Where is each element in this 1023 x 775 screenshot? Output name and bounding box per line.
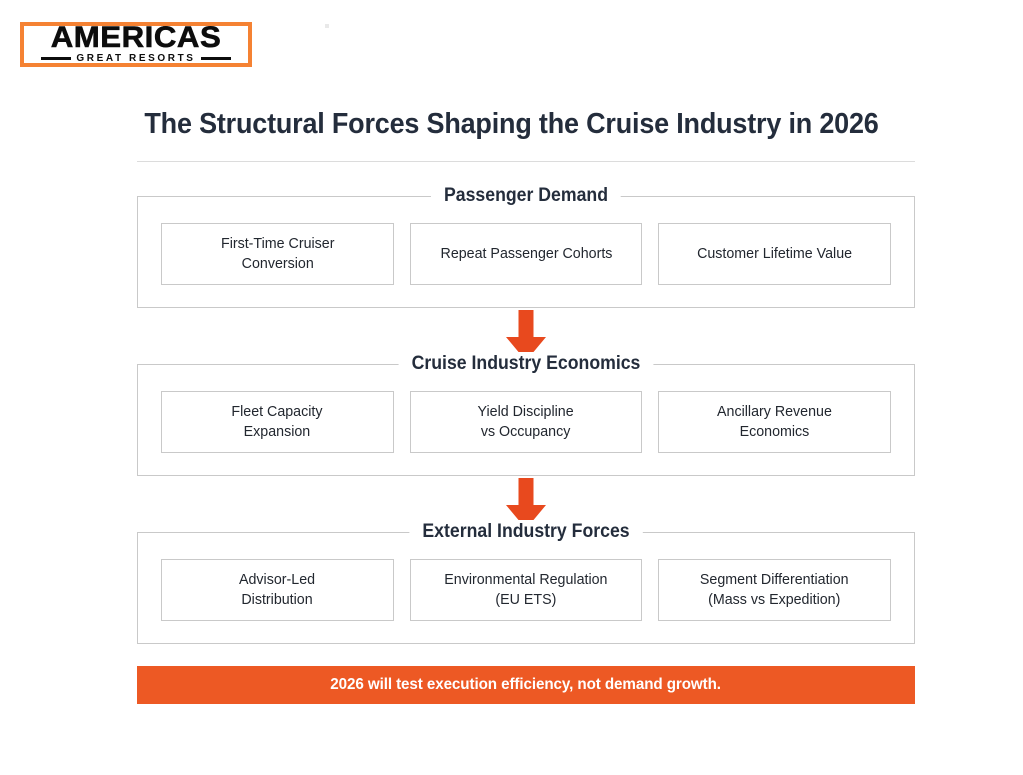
flow-cell[interactable]: Repeat Passenger Cohorts bbox=[410, 223, 643, 285]
group-row: Advisor-Led Distribution Environmental R… bbox=[161, 559, 891, 621]
flow-cell-label: Advisor-Led Distribution bbox=[239, 570, 315, 610]
flow-cell-label: Repeat Passenger Cohorts bbox=[440, 244, 612, 264]
logo-secondary-text: GREAT RESORTS bbox=[71, 53, 200, 64]
logo-secondary-row: GREAT RESORTS bbox=[27, 53, 245, 64]
flow-cell[interactable]: Advisor-Led Distribution bbox=[161, 559, 394, 621]
flow-diagram: Passenger Demand First-Time Cruiser Conv… bbox=[137, 196, 915, 704]
flow-cell[interactable]: Yield Discipline vs Occupancy bbox=[410, 391, 643, 453]
flow-cell-label: Ancillary Revenue Economics bbox=[717, 402, 832, 442]
flow-cell-label: Yield Discipline vs Occupancy bbox=[478, 402, 574, 442]
flow-cell-label: Environmental Regulation (EU ETS) bbox=[444, 570, 607, 610]
group-row: First-Time Cruiser Conversion Repeat Pas… bbox=[161, 223, 891, 285]
flow-group-cruise-industry-economics: Cruise Industry Economics Fleet Capacity… bbox=[137, 364, 915, 476]
summary-banner: 2026 will test execution efficiency, not… bbox=[137, 666, 915, 704]
logo-content: AMERICAS GREAT RESORTS bbox=[20, 22, 252, 67]
flow-group-external-industry-forces: External Industry Forces Advisor-Led Dis… bbox=[137, 532, 915, 644]
logo-dash-left-icon bbox=[41, 57, 71, 60]
group-legend: External Industry Forces bbox=[409, 520, 642, 544]
group-legend: Passenger Demand bbox=[431, 184, 621, 208]
flow-group-passenger-demand: Passenger Demand First-Time Cruiser Conv… bbox=[137, 196, 915, 308]
flow-cell-label: Fleet Capacity Expansion bbox=[232, 402, 323, 442]
page-title: The Structural Forces Shaping the Cruise… bbox=[36, 108, 987, 141]
flow-cell[interactable]: Environmental Regulation (EU ETS) bbox=[410, 559, 643, 621]
title-divider bbox=[137, 161, 915, 162]
image-artifact-mark bbox=[325, 24, 329, 28]
brand-logo: AMERICAS GREAT RESORTS bbox=[20, 22, 252, 67]
flow-cell-label: Segment Differentiation (Mass vs Expedit… bbox=[700, 570, 849, 610]
logo-primary-text: AMERICAS bbox=[51, 24, 222, 52]
flow-cell-label: Customer Lifetime Value bbox=[697, 244, 852, 264]
group-row: Fleet Capacity Expansion Yield Disciplin… bbox=[161, 391, 891, 453]
flow-cell[interactable]: Fleet Capacity Expansion bbox=[161, 391, 394, 453]
flow-cell[interactable]: First-Time Cruiser Conversion bbox=[161, 223, 394, 285]
flow-cell[interactable]: Customer Lifetime Value bbox=[658, 223, 891, 285]
flow-cell-label: First-Time Cruiser Conversion bbox=[221, 234, 334, 274]
summary-banner-text: 2026 will test execution efficiency, not… bbox=[331, 676, 722, 694]
flow-cell[interactable]: Segment Differentiation (Mass vs Expedit… bbox=[658, 559, 891, 621]
group-legend: Cruise Industry Economics bbox=[399, 352, 654, 376]
flow-cell[interactable]: Ancillary Revenue Economics bbox=[658, 391, 891, 453]
logo-dash-right-icon bbox=[201, 57, 231, 60]
